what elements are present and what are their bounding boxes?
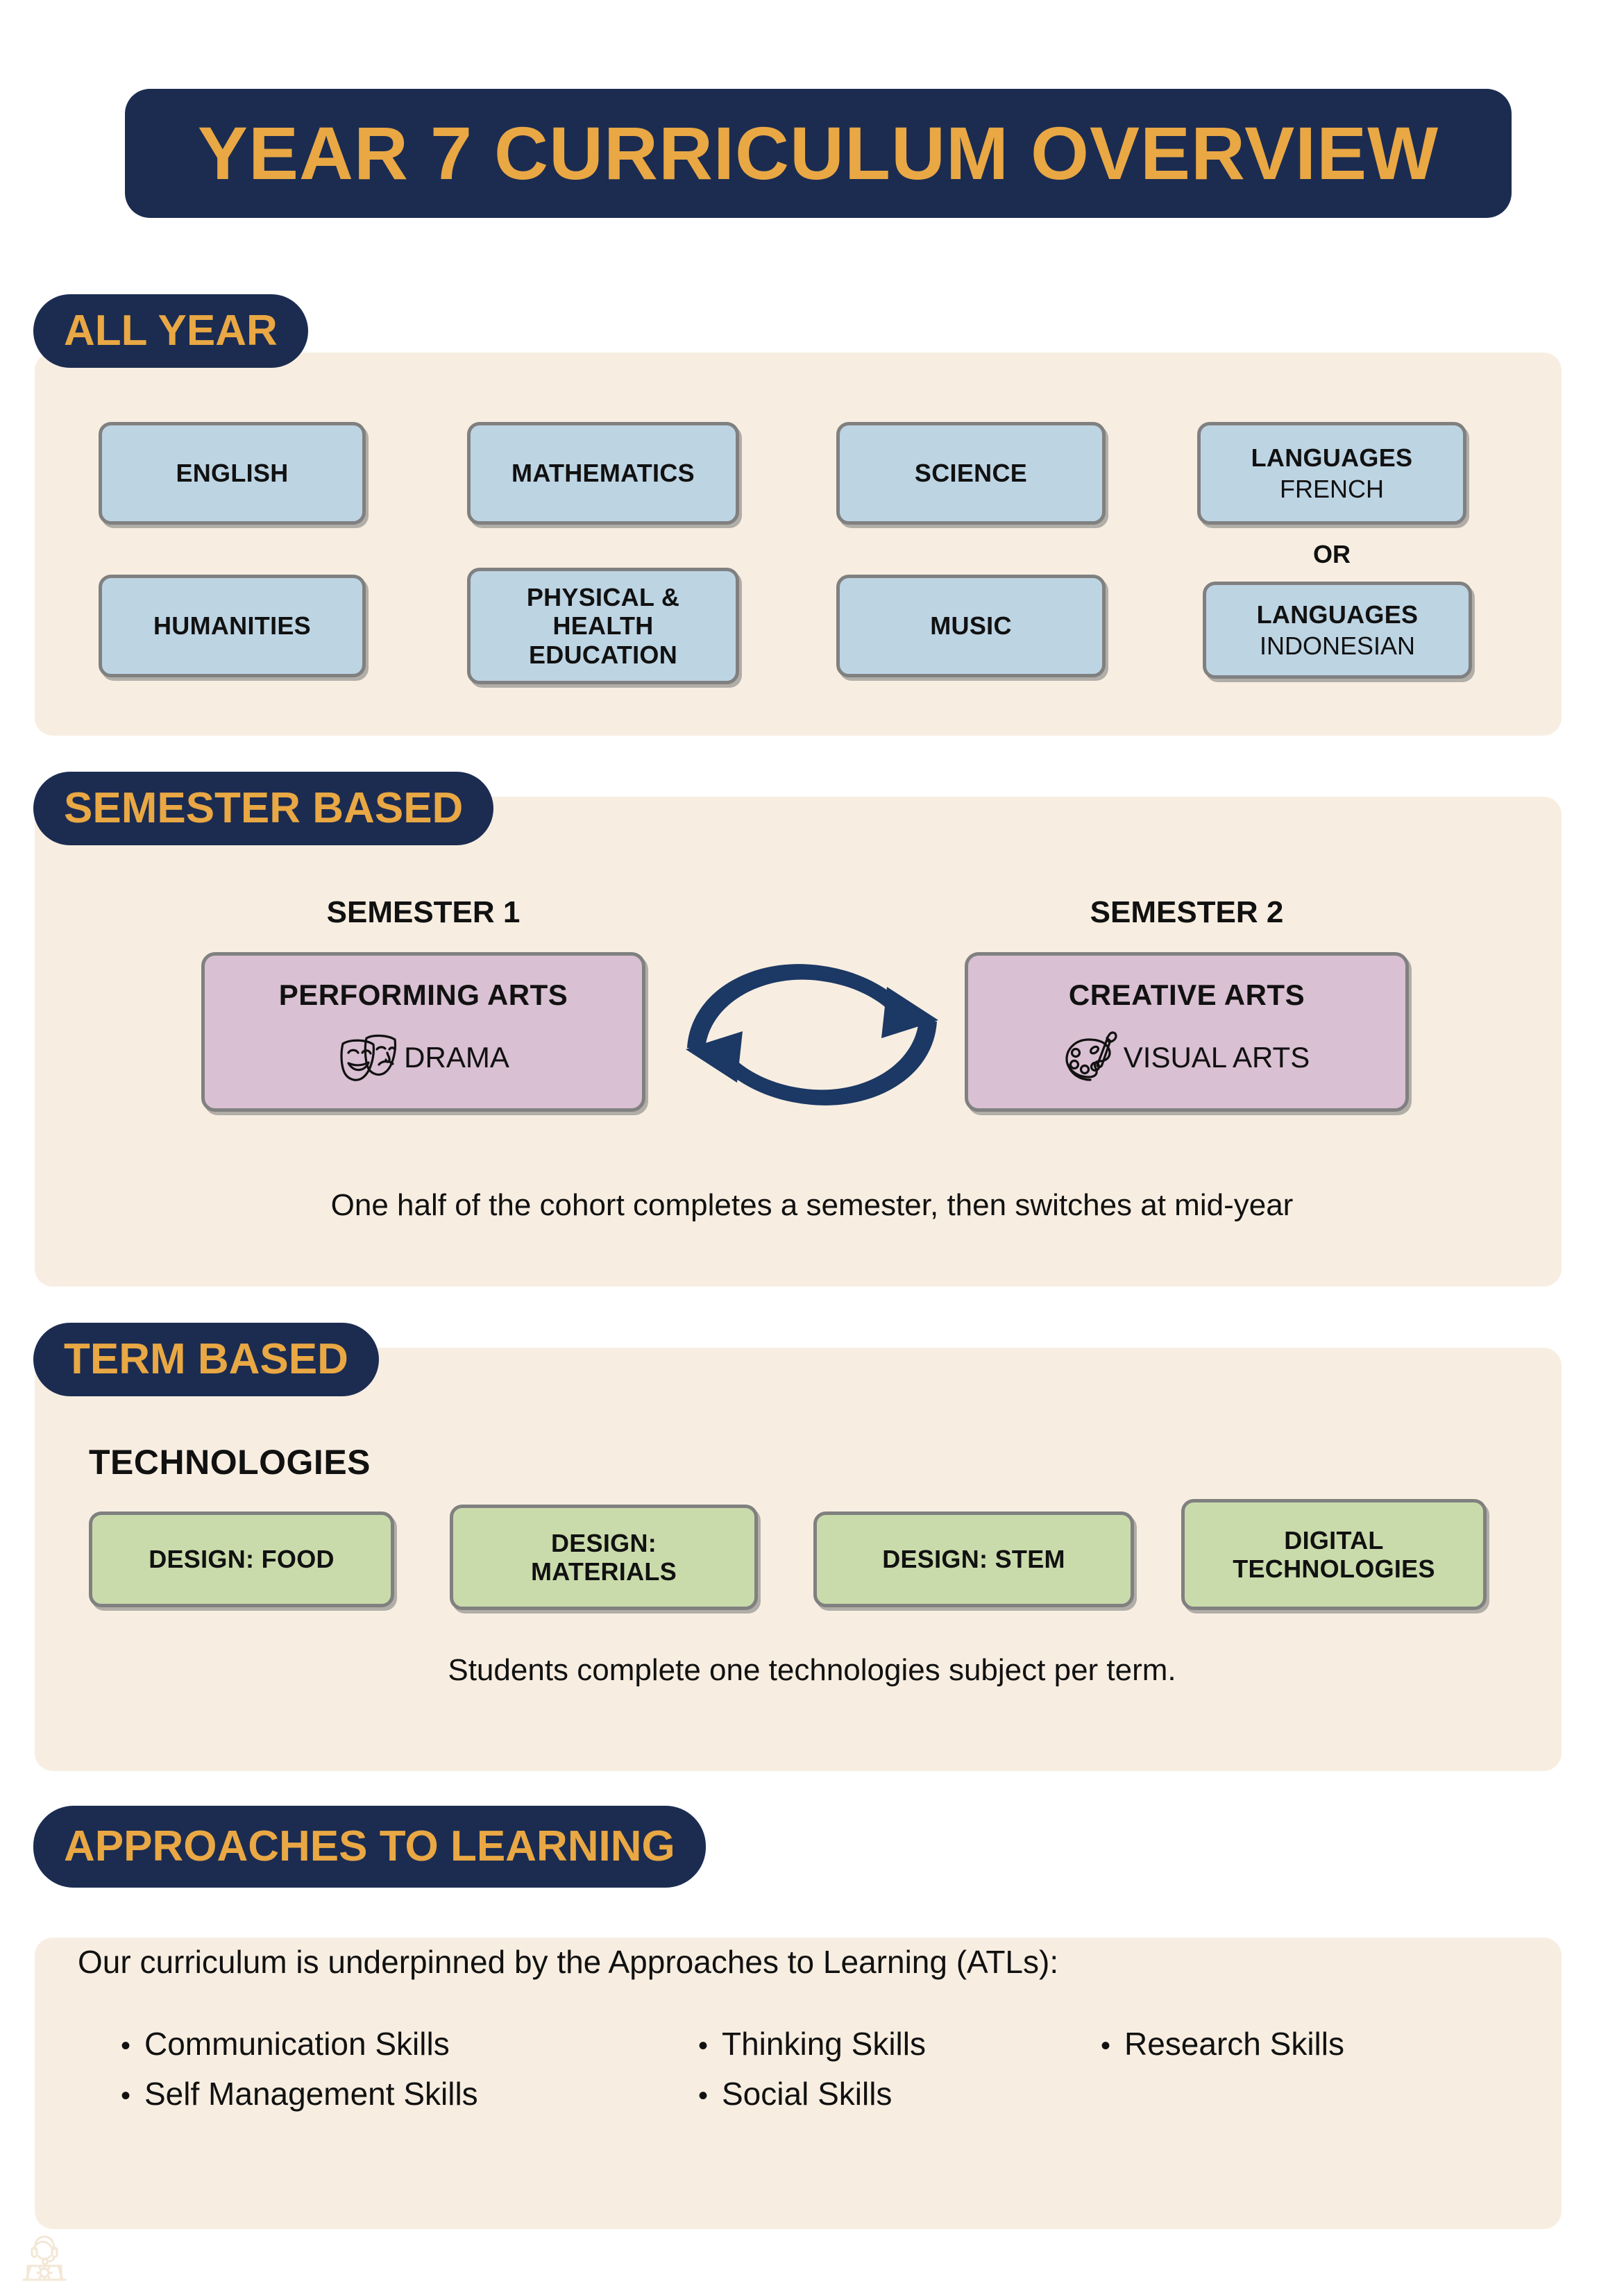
subject-label-line2: TECHNOLOGIES [1233,1555,1435,1583]
semester-based-badge-label: SEMESTER BASED [64,787,463,830]
subject-label: HUMANITIES [153,611,311,640]
page-title: YEAR 7 CURRICULUM OVERVIEW [198,116,1439,191]
subject-box-mathematics[interactable]: MATHEMATICS [467,422,739,525]
subject-label: ENGLISH [176,459,288,487]
semester-2-heading: SEMESTER 2 [965,895,1409,930]
infographic-page: YEAR 7 CURRICULUM OVERVIEW ALL YEAR ENGL… [0,0,1624,2295]
atl-badge: APPROACHES TO LEARNING [33,1806,706,1888]
subject-label: MUSIC [930,611,1012,640]
drama-label: DRAMA [404,1041,509,1074]
subject-label-line1: DESIGN: [551,1529,657,1557]
atl-intro-text: Our curriculum is underpinned by the App… [78,1943,1058,1981]
subject-box-english[interactable]: ENGLISH [99,422,366,525]
atl-skill-communication: Communication Skills [144,2025,450,2063]
subject-sublabel: INDONESIAN [1260,632,1415,660]
subject-label: LANGUAGES [1251,443,1413,472]
atl-skill-self-management: Self Management Skills [144,2075,478,2112]
art-palette-icon [1064,1030,1119,1086]
term-based-badge-label: TERM BASED [64,1338,348,1381]
drama-row: DRAMA [337,1030,509,1086]
subject-box-humanities[interactable]: HUMANITIES [99,575,366,677]
subject-label-line1: DIGITAL [1284,1526,1383,1555]
visual-arts-row: VISUAL ARTS [1064,1030,1310,1086]
atl-badge-label: APPROACHES TO LEARNING [64,1825,675,1868]
languages-or-label: OR [1197,540,1466,569]
subject-label-line1: DESIGN: FOOD [149,1545,335,1573]
semester-based-badge: SEMESTER BASED [33,772,493,845]
page-title-banner: YEAR 7 CURRICULUM OVERVIEW [125,89,1512,218]
atl-skill-research: Research Skills [1124,2025,1344,2063]
subject-sublabel: FRENCH [1280,475,1384,503]
visual-arts-label: VISUAL ARTS [1124,1041,1310,1074]
subject-box-design-stem[interactable]: DESIGN: STEM [813,1511,1134,1607]
subject-box-design-food[interactable]: DESIGN: FOOD [89,1511,394,1607]
subject-box-languages-french[interactable]: LANGUAGES FRENCH [1197,422,1466,525]
semester-2-subject-box[interactable]: CREATIVE ARTS [965,952,1409,1112]
subject-label-line2: MATERIALS [531,1557,677,1586]
subject-label-line2: HEALTH [552,611,653,640]
subject-box-design-materials[interactable]: DESIGN: MATERIALS [450,1505,758,1610]
all-year-badge-label: ALL YEAR [64,310,278,353]
semester-1-subject-box[interactable]: PERFORMING ARTS [201,952,645,1112]
semester-1-heading: SEMESTER 1 [201,895,645,930]
atl-skill-thinking: Thinking Skills [722,2025,926,2063]
subject-box-digital-technologies[interactable]: DIGITAL TECHNOLOGIES [1181,1499,1487,1610]
term-based-badge: TERM BASED [33,1323,379,1396]
subject-box-languages-indonesian[interactable]: LANGUAGES INDONESIAN [1203,582,1472,679]
circular-swap-arrows-icon [666,944,958,1128]
subject-label-line1: PHYSICAL & [527,583,679,611]
subject-box-science[interactable]: SCIENCE [836,422,1106,525]
atl-skill-social: Social Skills [722,2075,892,2112]
subject-label: MATHEMATICS [511,459,695,487]
subject-box-physical-health-education[interactable]: PHYSICAL & HEALTH EDUCATION [467,568,739,684]
subject-label: LANGUAGES [1257,600,1419,629]
creative-arts-title: CREATIVE ARTS [1069,979,1305,1012]
drama-masks-icon [337,1030,400,1086]
support-agent-computer-icon [15,2227,74,2285]
subject-label: SCIENCE [915,459,1027,487]
subject-label-line3: EDUCATION [529,641,677,669]
semester-caption: One half of the cohort completes a semes… [0,1188,1624,1223]
all-year-badge: ALL YEAR [33,294,308,368]
technologies-group-title: TECHNOLOGIES [89,1442,371,1482]
subject-box-music[interactable]: MUSIC [836,575,1106,677]
subject-label-line1: DESIGN: STEM [882,1545,1065,1573]
performing-arts-title: PERFORMING ARTS [279,979,568,1012]
term-caption: Students complete one technologies subje… [0,1653,1624,1688]
